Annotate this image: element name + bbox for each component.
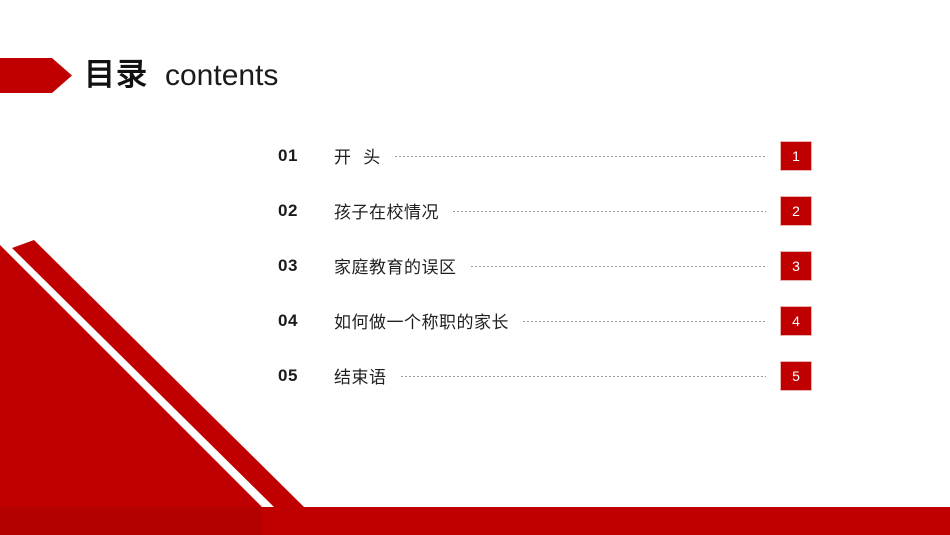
bottom-left-red-triangle [0, 245, 262, 507]
toc-row-number: 05 [278, 366, 334, 386]
table-of-contents: 01 开 头 1 02 孩子在校情况 2 03 家庭教育的误区 3 04 如何做… [278, 128, 812, 403]
toc-row-number: 01 [278, 146, 334, 166]
toc-page-badge[interactable]: 4 [780, 306, 812, 336]
toc-row-2[interactable]: 02 孩子在校情况 2 [278, 183, 812, 238]
toc-row-label: 如何做一个称职的家长 [334, 308, 509, 333]
toc-row-label: 开 头 [334, 143, 381, 168]
toc-leader-dots [471, 266, 767, 267]
toc-row-4[interactable]: 04 如何做一个称职的家长 4 [278, 293, 812, 348]
toc-leader-dots [523, 321, 766, 322]
toc-row-number: 03 [278, 256, 334, 276]
page-title-cn: 目录 [84, 60, 148, 91]
toc-page-badge[interactable]: 1 [780, 141, 812, 171]
toc-leader-dots [401, 376, 767, 377]
pennant-arrow-icon [0, 58, 72, 93]
toc-row-label: 家庭教育的误区 [334, 253, 457, 278]
diagonal-red-stripe [12, 240, 304, 507]
bottom-red-bar [262, 507, 950, 535]
toc-row-number: 04 [278, 311, 334, 331]
toc-row-label: 孩子在校情况 [334, 198, 439, 223]
page-title: 目录 contents [84, 60, 278, 91]
toc-row-5[interactable]: 05 结束语 5 [278, 348, 812, 403]
bottom-red-bar-left [0, 507, 262, 535]
page-header: 目录 contents [0, 54, 278, 96]
toc-page-badge[interactable]: 5 [780, 361, 812, 391]
toc-leader-dots [453, 211, 766, 212]
toc-page-badge[interactable]: 2 [780, 196, 812, 226]
toc-row-1[interactable]: 01 开 头 1 [278, 128, 812, 183]
toc-row-3[interactable]: 03 家庭教育的误区 3 [278, 238, 812, 293]
toc-leader-dots [395, 156, 766, 157]
toc-row-label: 结束语 [334, 363, 387, 388]
page-title-en: contents [165, 61, 278, 91]
toc-row-number: 02 [278, 201, 334, 221]
slide-canvas: 目录 contents 01 开 头 1 02 孩子在校情况 2 03 家庭教育… [0, 0, 950, 535]
toc-page-badge[interactable]: 3 [780, 251, 812, 281]
